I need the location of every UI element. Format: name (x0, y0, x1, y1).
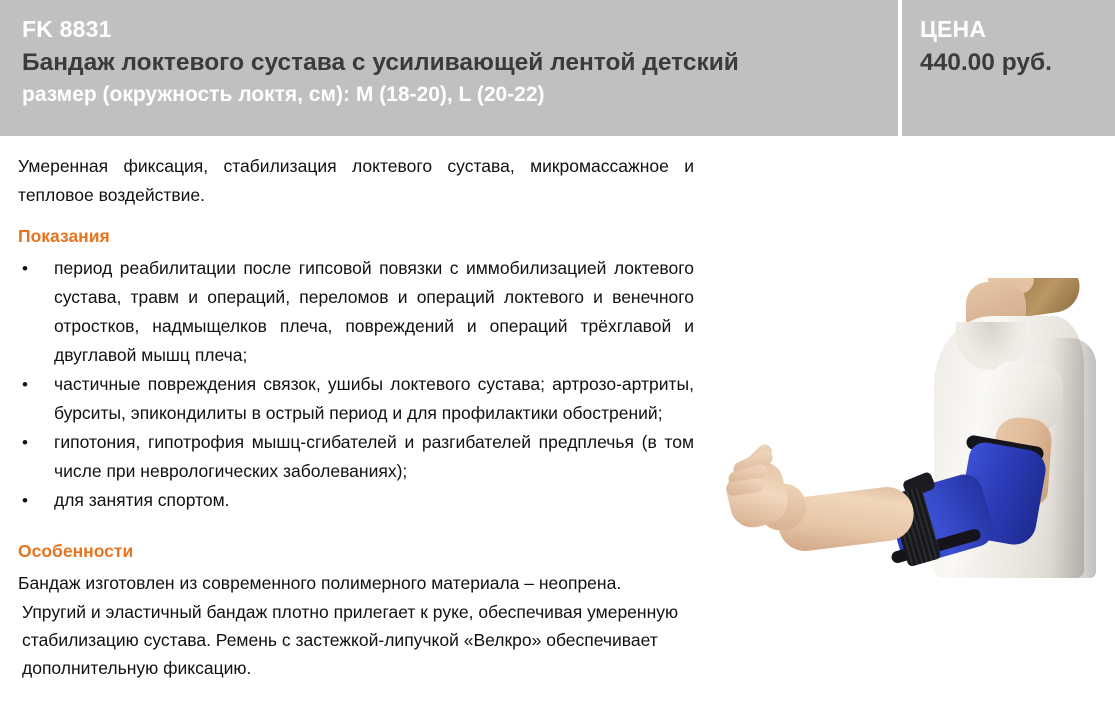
product-intro-text: Умеренная фиксация, стабилизация локтево… (18, 152, 694, 210)
list-item: период реабилитации после гипсовой повяз… (18, 254, 694, 370)
product-sku: FK 8831 (22, 14, 898, 44)
header-price-block: ЦЕНА 440.00 руб. (902, 0, 1115, 136)
list-item: частичные повреждения связок, ушибы локт… (18, 370, 694, 428)
list-item: гипотония, гипотрофия мышц-сгибателей и … (18, 428, 694, 486)
price-value: 440.00 руб. (920, 48, 1115, 78)
price-label: ЦЕНА (920, 14, 1115, 44)
list-item: для занятия спортом. (18, 486, 694, 515)
header-title-block: FK 8831 Бандаж локтевого сустава с усили… (0, 0, 898, 136)
features-paragraph-2: Упругий и эластичный бандаж плотно приле… (18, 598, 694, 682)
features-paragraph-1: Бандаж изготовлен из современного полиме… (18, 569, 694, 598)
indications-heading: Показания (18, 224, 694, 248)
product-photo (720, 278, 1115, 578)
product-content: Умеренная фиксация, стабилизация локтево… (0, 136, 1115, 721)
section-spacer (18, 527, 694, 539)
product-description-column: Умеренная фиксация, стабилизация локтево… (18, 152, 694, 682)
features-heading: Особенности (18, 539, 694, 563)
product-header-bar: FK 8831 Бандаж локтевого сустава с усили… (0, 0, 1115, 136)
indications-list: период реабилитации после гипсовой повяз… (18, 254, 694, 515)
page-title: Бандаж локтевого сустава с усиливающей л… (22, 48, 898, 78)
product-size-line: размер (окружность локтя, см): M (18-20)… (22, 81, 898, 109)
